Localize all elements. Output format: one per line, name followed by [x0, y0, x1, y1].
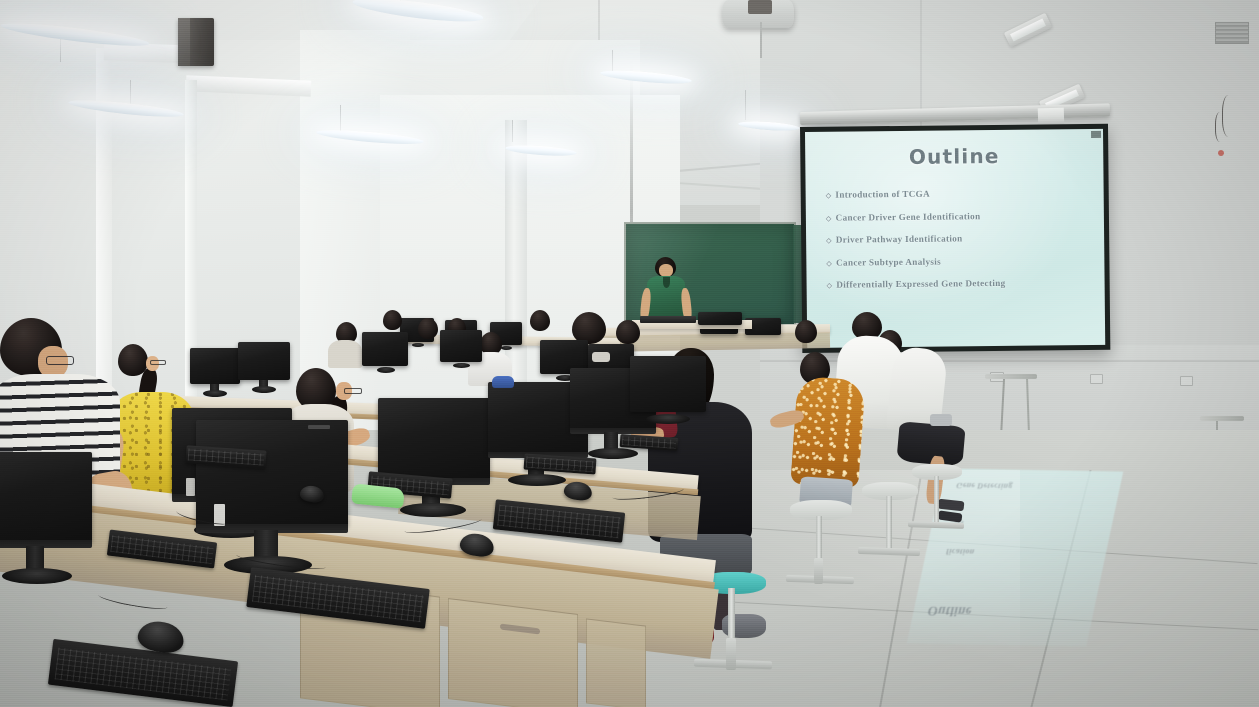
glasses-icon	[150, 360, 166, 365]
blue-object	[492, 376, 514, 388]
student-head	[418, 318, 438, 339]
glasses-icon	[344, 388, 362, 394]
student-head	[530, 310, 550, 331]
desk-cabinet	[586, 618, 646, 707]
podium-keyboard	[640, 316, 696, 323]
stool-post	[886, 496, 892, 554]
podium-monitor	[698, 312, 742, 325]
diamond-bullet-icon: ◇	[826, 238, 832, 245]
student-grey-shorts	[930, 414, 952, 426]
student-head	[616, 320, 640, 344]
stool-foot	[726, 638, 736, 670]
light-suspension-wire	[60, 36, 61, 62]
student-head	[795, 320, 817, 343]
equipment-stand-top	[1200, 416, 1244, 421]
reflected-slide-text: fication	[945, 547, 975, 556]
desk-object	[592, 352, 610, 362]
stool-post	[934, 476, 939, 528]
equipment-stand-top	[985, 374, 1037, 379]
slide-bullet: ◇ Driver Pathway Identification	[826, 232, 1096, 245]
slide-bullet-text: Introduction of TCGA	[835, 189, 930, 200]
wall-cable	[1215, 112, 1227, 142]
speaker-face	[178, 18, 190, 66]
projector-screen: Outline ◇ Introduction of TCGA ◇ Cancer …	[805, 129, 1105, 348]
slide-bullet-text: Cancer Subtype Analysis	[836, 256, 941, 267]
stool-foot	[814, 558, 823, 584]
reflected-slide-title: Outline	[926, 603, 973, 620]
reflected-slide-text: Gene Detecting	[955, 481, 1013, 491]
glasses-icon	[46, 356, 74, 365]
slide-bullet-list: ◇ Introduction of TCGA ◇ Cancer Driver G…	[826, 187, 1097, 302]
light-suspension-wire	[745, 90, 746, 120]
student-orange-dress-body	[790, 376, 865, 488]
light-suspension-wire	[512, 120, 513, 142]
slide-title: Outline	[805, 143, 1103, 170]
desk-cabinet	[448, 598, 578, 707]
screen-corner-mark	[1091, 131, 1101, 138]
projector-mount	[748, 0, 772, 14]
diamond-bullet-icon: ◇	[826, 193, 832, 200]
wall-outlet	[1180, 376, 1193, 386]
slide-bullet-text: Cancer Driver Gene Identification	[836, 211, 981, 223]
diamond-bullet-icon: ◇	[826, 260, 832, 267]
diamond-bullet-icon: ◇	[826, 215, 832, 222]
slide-bullet: ◇ Cancer Driver Gene Identification	[826, 209, 1096, 222]
projector-rod	[760, 22, 762, 58]
diamond-bullet-icon: ◇	[827, 283, 833, 290]
classroom-photo: Outline ◇ Introduction of TCGA ◇ Cancer …	[0, 0, 1259, 707]
slide-bullet: ◇ Introduction of TCGA	[826, 187, 1096, 200]
slide-bullet: ◇ Cancer Subtype Analysis	[826, 254, 1096, 267]
slide-bullet: ◇ Differentially Expressed Gene Detectin…	[827, 277, 1097, 290]
slide-bullet-text: Driver Pathway Identification	[836, 233, 963, 244]
wall-outlet	[1090, 374, 1103, 384]
student-body	[328, 340, 362, 368]
indicator-light	[1218, 150, 1224, 156]
wall-vent	[1215, 22, 1249, 44]
wall-seam	[760, 360, 1259, 362]
lecturer-collar	[663, 277, 670, 288]
slide-bullet-text: Differentially Expressed Gene Detecting	[836, 278, 1005, 290]
